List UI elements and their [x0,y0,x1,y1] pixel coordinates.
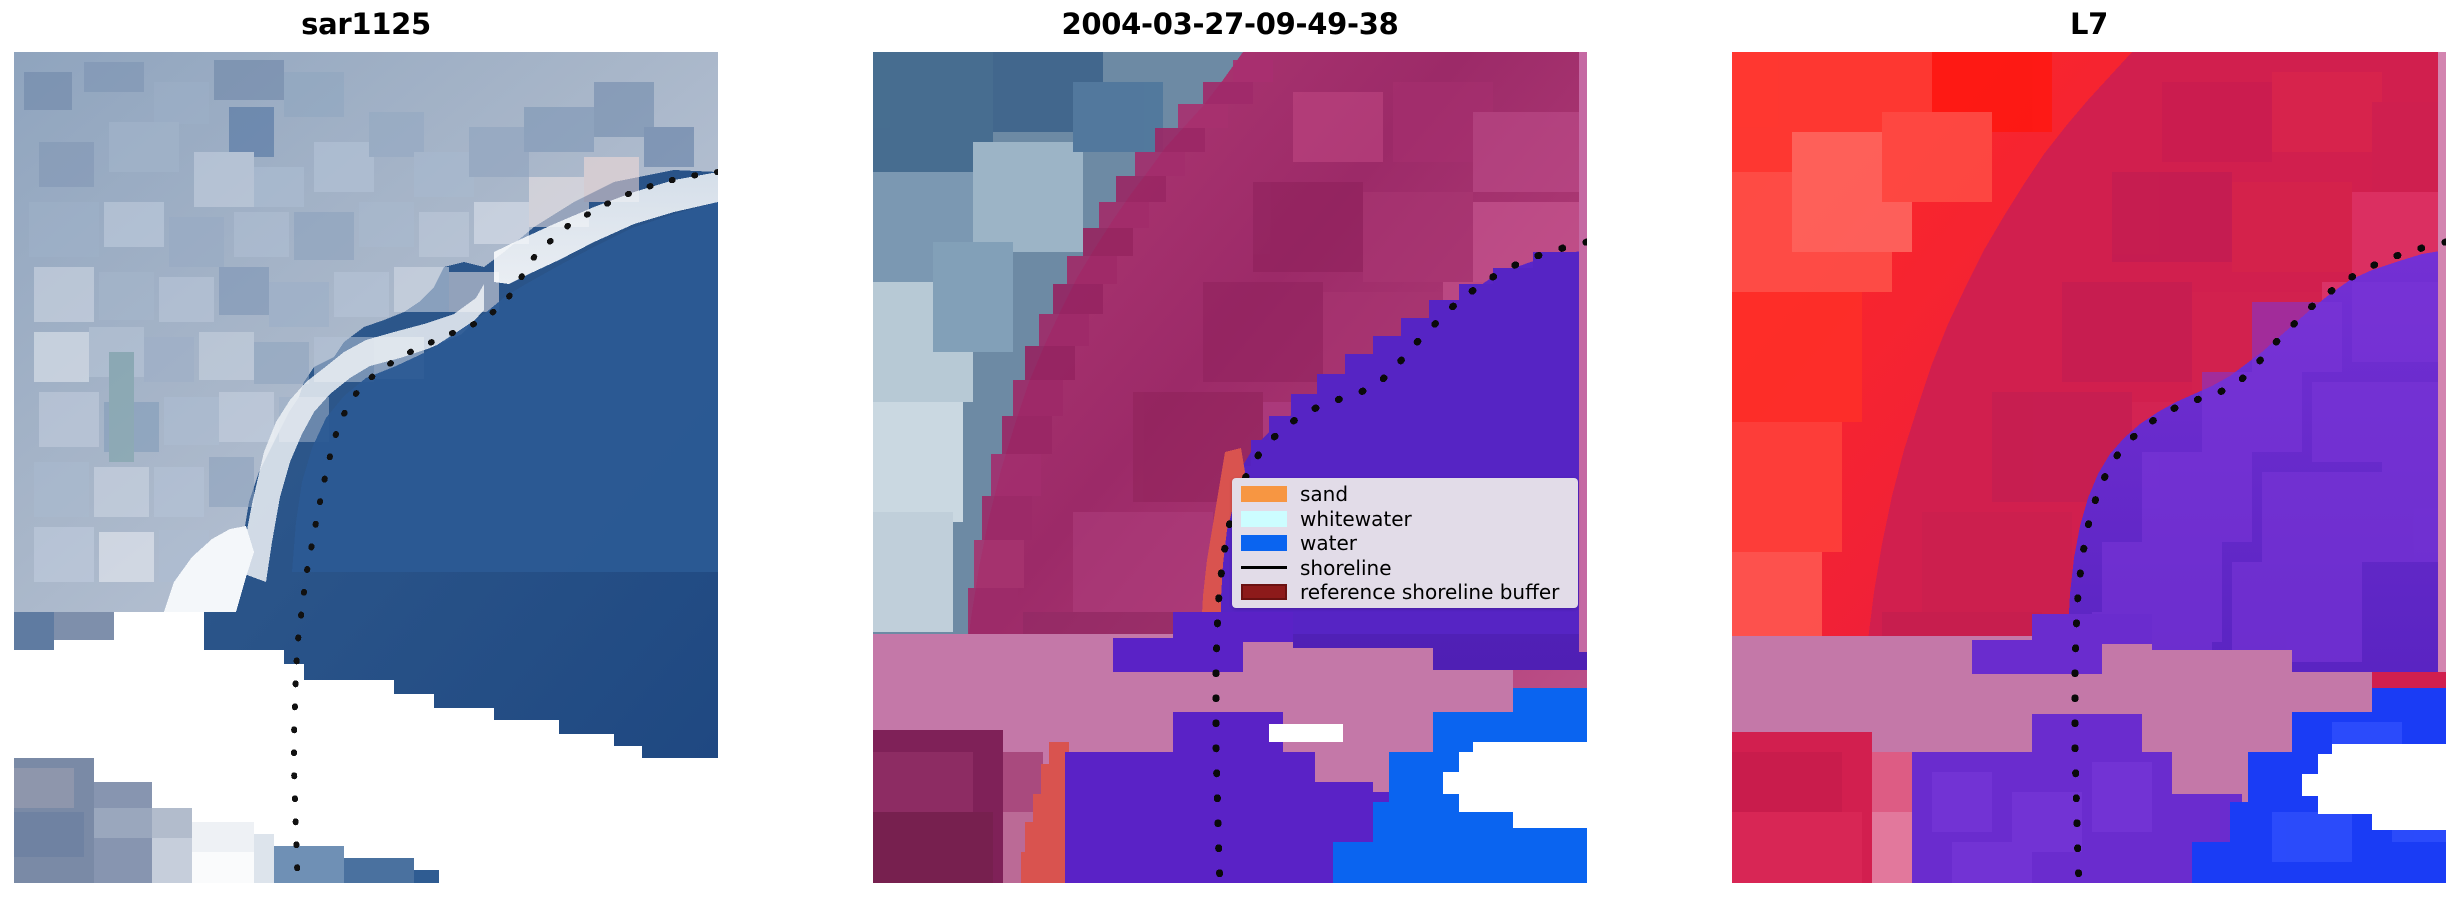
raster-l7 [1732,52,2446,883]
legend-item-shoreline: shoreline [1241,557,1569,579]
panel-l7-overlay[interactable] [1732,52,2446,883]
raster-rgb [14,52,718,883]
panel-title-1: sar1125 [14,4,718,44]
legend-item-reference-buffer: reference shoreline buffer [1241,581,1569,603]
legend-label-sand: sand [1300,483,1348,505]
panel-title-3: L7 [1732,4,2446,44]
legend-label-water: water [1300,532,1357,554]
legend-item-whitewater: whitewater [1241,508,1569,530]
legend-box[interactable]: sand whitewater water shoreline referenc… [1232,478,1578,608]
raster-classification [873,52,1587,883]
legend-item-water: water [1241,532,1569,554]
legend-label-shoreline: shoreline [1300,557,1392,579]
legend-item-sand: sand [1241,483,1569,505]
legend-swatch-shoreline [1241,566,1287,569]
panel-classification-overlay[interactable] [873,52,1587,883]
figure-canvas: sar1125 2004-03-27-09-49-38 L7 [0,0,2460,902]
legend-swatch-whitewater [1241,511,1287,527]
panel-title-2: 2004-03-27-09-49-38 [873,4,1587,44]
legend-swatch-sand [1241,486,1287,502]
legend-label-whitewater: whitewater [1300,508,1412,530]
legend-swatch-water [1241,535,1287,551]
legend-swatch-reference-buffer [1241,584,1287,600]
legend-label-reference-buffer: reference shoreline buffer [1300,581,1559,603]
panel-rgb-image[interactable] [14,52,718,883]
